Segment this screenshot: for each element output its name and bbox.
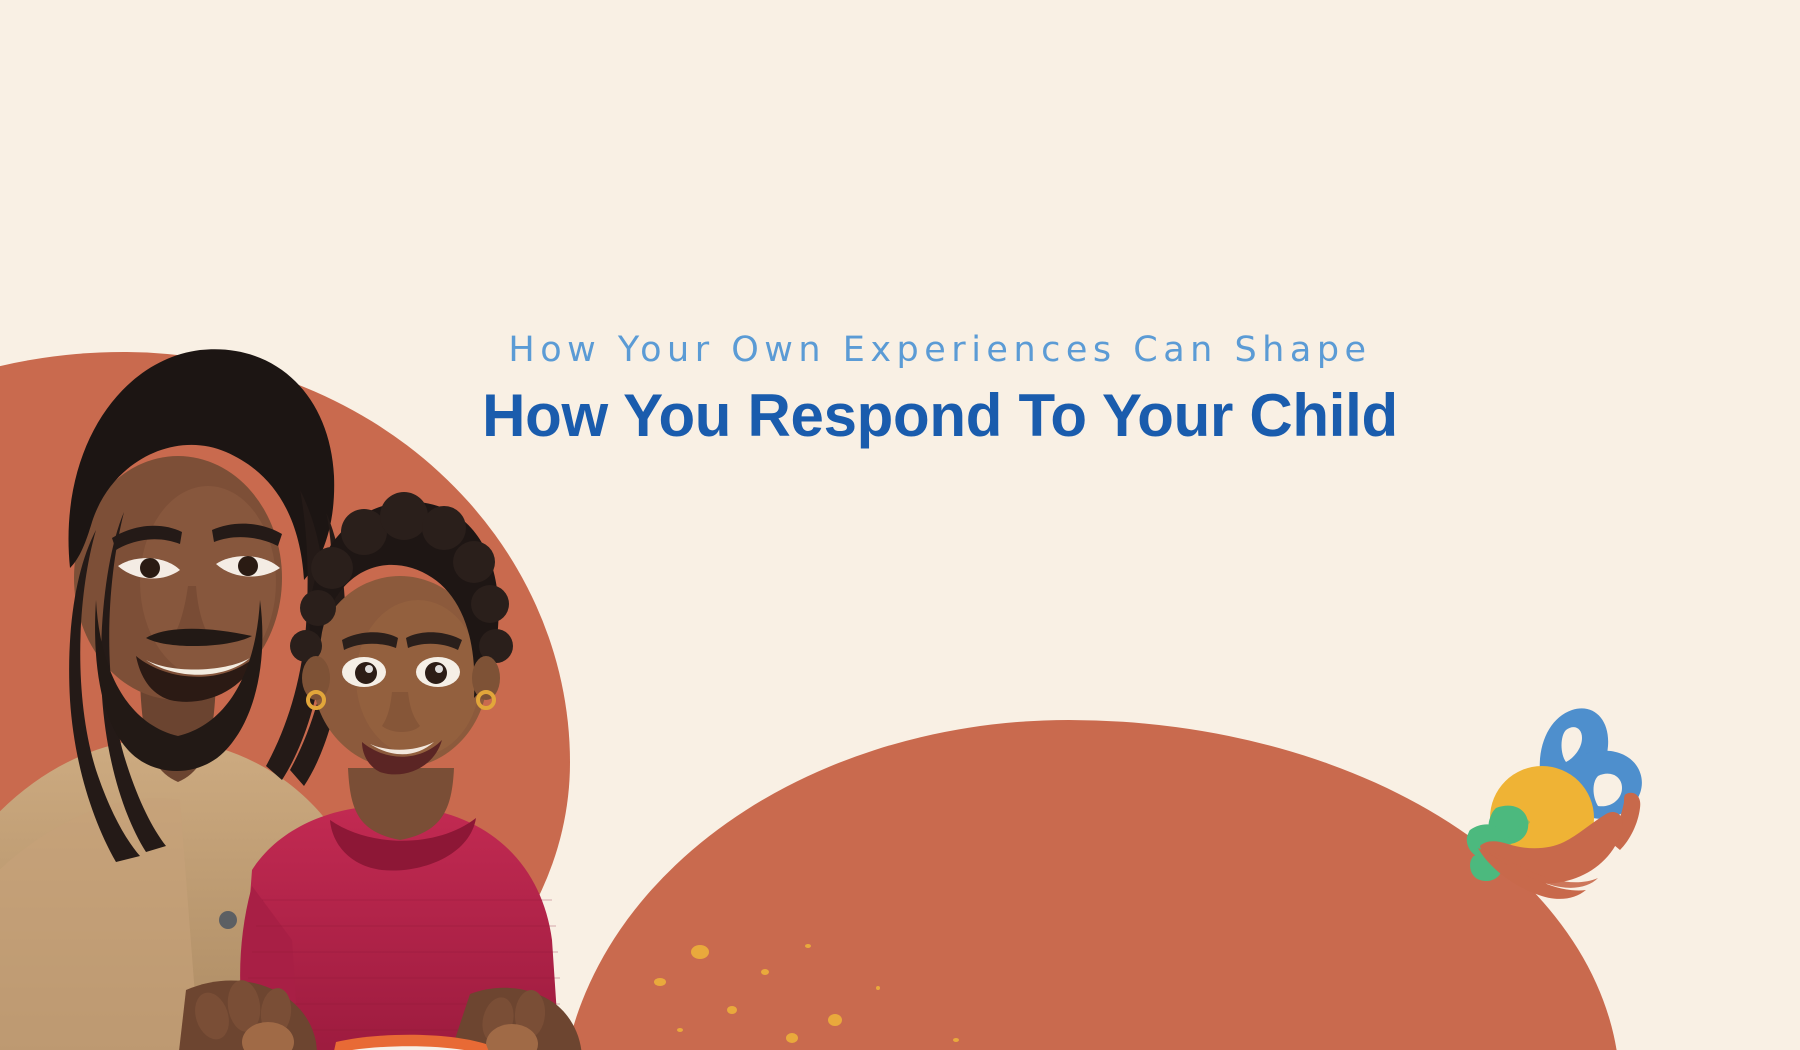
hero-banner: How Your Own Experiences Can Shape How Y… [0,0,1800,1050]
hero-headline: How You Respond To Your Child [430,383,1450,449]
hero-text-block: How Your Own Experiences Can Shape How Y… [430,330,1450,449]
hero-eyebrow: How Your Own Experiences Can Shape [430,330,1450,371]
brand-logo[interactable] [1430,690,1660,900]
